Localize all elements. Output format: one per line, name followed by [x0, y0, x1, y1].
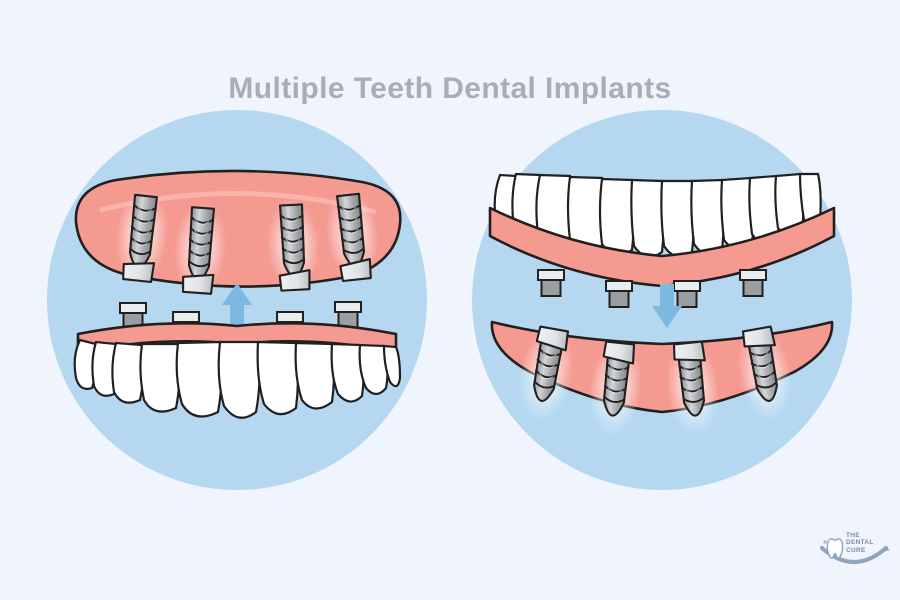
logo-text: THE DENTAL CURE [846, 532, 874, 554]
dental-illustration [0, 0, 900, 600]
logo-line-1: THE [846, 532, 874, 539]
illustration-canvas: Multiple Teeth Dental Implants [0, 0, 900, 600]
left-panel [47, 110, 427, 490]
upper-arch-with-implants [76, 171, 400, 296]
right-panel [472, 110, 852, 490]
logo-dot [823, 540, 826, 543]
logo-line-3: CURE [846, 547, 874, 554]
logo-line-2: DENTAL [846, 539, 874, 546]
brand-logo: THE DENTAL CURE [818, 528, 890, 572]
